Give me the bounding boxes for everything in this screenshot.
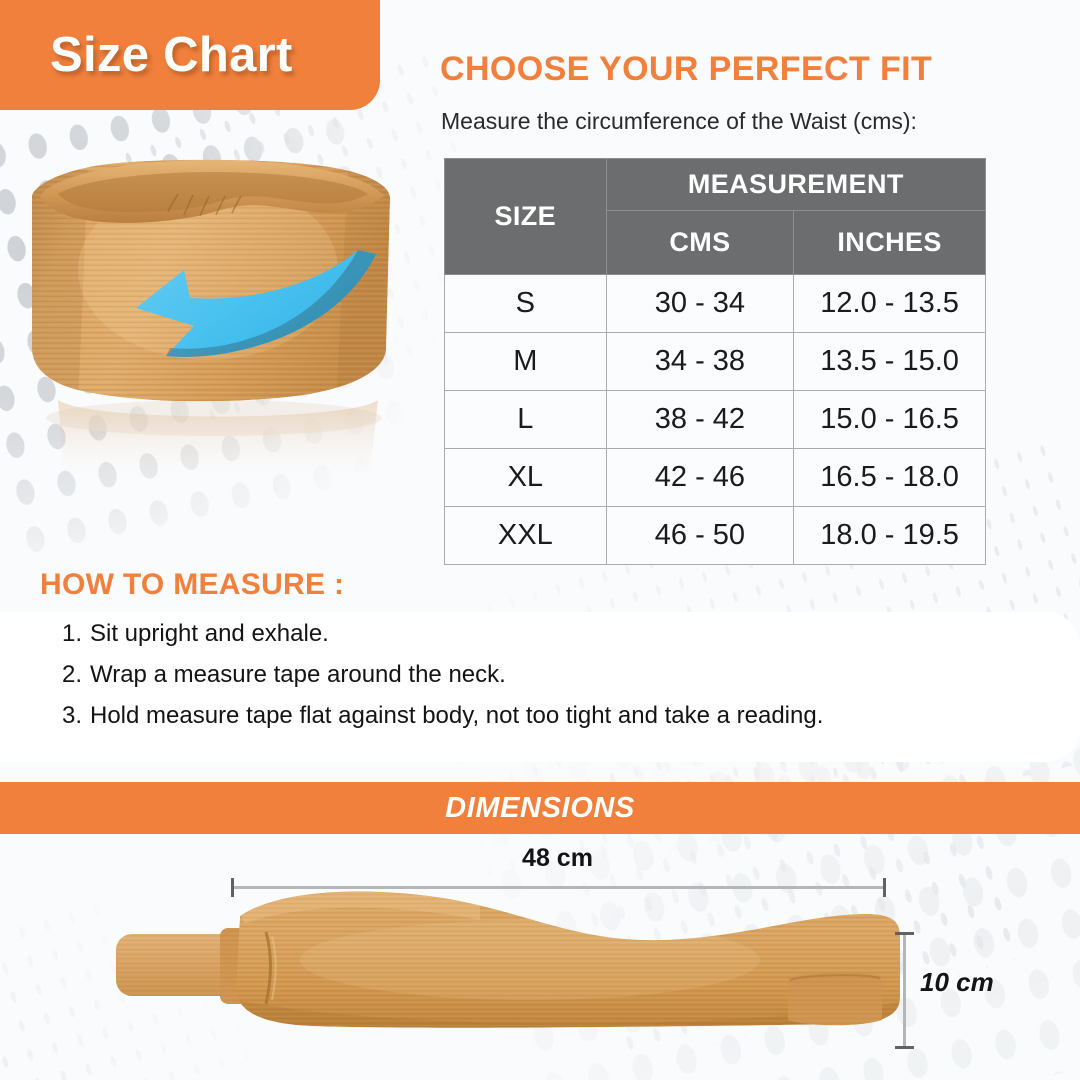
cell-size: XXL — [445, 507, 607, 565]
column-header-size: SIZE — [445, 159, 607, 275]
subline: Measure the circumference of the Waist (… — [441, 108, 917, 135]
cell-inches: 18.0 - 19.5 — [794, 507, 986, 565]
cell-cms: 34 - 38 — [606, 333, 794, 391]
list-item-number: 1. — [62, 620, 90, 648]
list-item-number: 2. — [62, 661, 90, 689]
cell-cms: 42 - 46 — [606, 449, 794, 507]
table-header: SIZE MEASUREMENT CMS INCHES — [445, 159, 986, 275]
dimensions-band: DIMENSIONS — [0, 782, 1080, 834]
table-row: XL 42 - 46 16.5 - 18.0 — [445, 449, 986, 507]
column-header-measurement: MEASUREMENT — [606, 159, 985, 211]
product-image-collar-front — [18, 150, 418, 480]
cell-inches: 12.0 - 13.5 — [794, 275, 986, 333]
list-item: 1. Sit upright and exhale. — [62, 620, 823, 661]
cell-cms: 46 - 50 — [606, 507, 794, 565]
headline: CHOOSE YOUR PERFECT FIT — [440, 50, 932, 89]
list-item-text: Sit upright and exhale. — [90, 620, 329, 648]
cell-inches: 16.5 - 18.0 — [794, 449, 986, 507]
cell-inches: 15.0 - 16.5 — [794, 391, 986, 449]
column-header-inches: INCHES — [794, 211, 986, 275]
dimension-width-label: 48 cm — [0, 844, 1080, 873]
table-row: L 38 - 42 15.0 - 16.5 — [445, 391, 986, 449]
cell-size: M — [445, 333, 607, 391]
product-image-collar-flat — [100, 880, 930, 1040]
size-table: SIZE MEASUREMENT CMS INCHES S 30 - 34 12… — [444, 158, 986, 565]
list-item: 2. Wrap a measure tape around the neck. — [62, 661, 823, 702]
list-item-text: Hold measure tape flat against body, not… — [90, 702, 823, 730]
list-item-number: 3. — [62, 702, 90, 730]
table-row: XXL 46 - 50 18.0 - 19.5 — [445, 507, 986, 565]
list-item-text: Wrap a measure tape around the neck. — [90, 661, 506, 689]
howto-measure-list: 1. Sit upright and exhale. 2. Wrap a mea… — [62, 620, 823, 743]
page-title: Size Chart — [50, 27, 293, 83]
cell-size: S — [445, 275, 607, 333]
cell-size: XL — [445, 449, 607, 507]
list-item: 3. Hold measure tape flat against body, … — [62, 702, 823, 743]
dimension-width-line — [231, 886, 886, 889]
table-row: M 34 - 38 13.5 - 15.0 — [445, 333, 986, 391]
cell-size: L — [445, 391, 607, 449]
dimensions-band-label: DIMENSIONS — [445, 792, 635, 825]
column-header-cms: CMS — [606, 211, 794, 275]
size-chart-infographic: Size Chart CHOOSE YOUR PERFECT FIT Measu… — [0, 0, 1080, 1080]
cell-cms: 30 - 34 — [606, 275, 794, 333]
howto-measure-title: HOW TO MEASURE : — [40, 568, 344, 602]
table-row: S 30 - 34 12.0 - 13.5 — [445, 275, 986, 333]
cell-cms: 38 - 42 — [606, 391, 794, 449]
dimension-height-line — [903, 932, 906, 1049]
title-tab: Size Chart — [0, 0, 380, 110]
table-body: S 30 - 34 12.0 - 13.5 M 34 - 38 13.5 - 1… — [445, 275, 986, 565]
cell-inches: 13.5 - 15.0 — [794, 333, 986, 391]
dimension-height-label: 10 cm — [920, 967, 994, 998]
